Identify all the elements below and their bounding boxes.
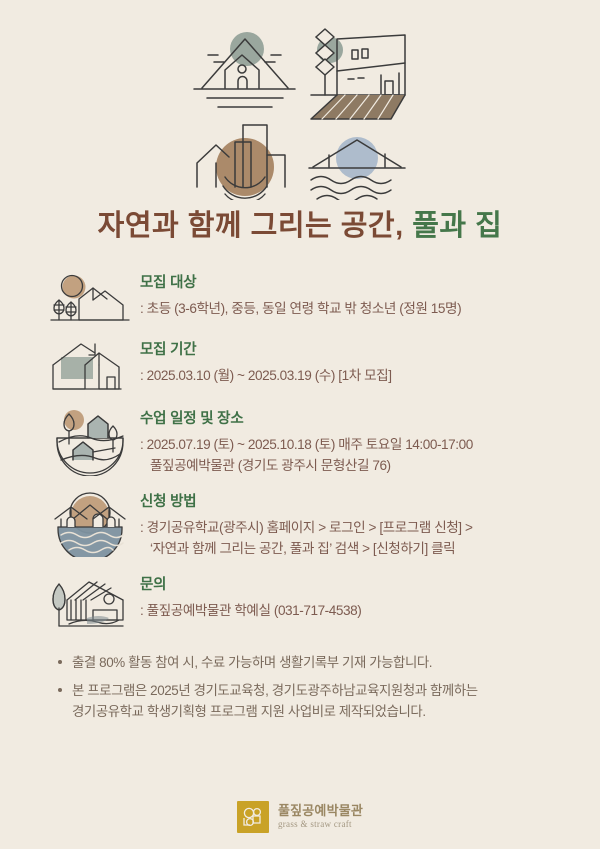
info-heading-apply: 신청 방법	[140, 493, 558, 513]
info-heading-period: 모집 기간	[140, 341, 558, 361]
page-title: 자연과 함께 그리는 공간, 풀과 집	[0, 208, 600, 244]
footer-museum-name-ko: 풀짚공예박물관	[278, 804, 363, 818]
info-body-period: 모집 기간 : 2025.03.10 (월) ~ 2025.03.19 (수) …	[136, 339, 558, 386]
info-heading-contact: 문의	[140, 576, 558, 596]
note-item: 출결 80% 활동 참여 시, 수료 가능하며 생활기록부 기재 가능합니다.	[56, 652, 554, 674]
info-text-schedule-line2: 풀짚공예박물관 (경기도 광주시 문형산길 76)	[140, 455, 558, 476]
hero-panel-modern-house	[311, 29, 405, 119]
page-title-part1: 자연과 함께 그리는 공간,	[98, 210, 404, 242]
hero-illustration	[0, 0, 600, 200]
waterside-houses-icon	[44, 491, 136, 557]
info-text-schedule-line1: : 2025.07.19 (토) ~ 2025.10.18 (토) 매주 토요일…	[140, 434, 558, 455]
note-line-1: 출결 80% 활동 참여 시, 수료 가능하며 생활기록부 기재 가능합니다.	[72, 655, 432, 670]
info-text-target-line1: : 초등 (3-6학년), 중등, 동일 연령 학교 밖 청소년 (정원 15명…	[140, 298, 558, 319]
info-text-apply-line1: : 경기공유학교(광주시) 홈페이지 > 로그인 > [프로그램 신청] >	[140, 517, 558, 538]
note-line-2: 경기공유학교 학생기획형 프로그램 지원 사업비로 제작되었습니다.	[72, 701, 554, 723]
info-row-target: 모집 대상 : 초등 (3-6학년), 중등, 동일 연령 학교 밖 청소년 (…	[44, 272, 558, 324]
info-body-target: 모집 대상 : 초등 (3-6학년), 중등, 동일 연령 학교 밖 청소년 (…	[136, 272, 558, 319]
info-body-schedule: 수업 일정 및 장소 : 2025.07.19 (토) ~ 2025.10.18…	[136, 408, 558, 476]
hero-illustration-svg	[185, 15, 415, 200]
info-text-contact-line1: : 풀짚공예박물관 학예실 (031-717-4538)	[140, 600, 558, 621]
hero-panel-house-over-water	[309, 137, 405, 200]
page-title-part2: 풀과 집	[412, 210, 502, 242]
grass-straw-craft-logo-icon	[237, 801, 269, 833]
info-text-period-line1: : 2025.03.10 (월) ~ 2025.03.19 (수) [1차 모집…	[140, 365, 558, 386]
info-text-apply-line2: ‘자연과 함께 그리는 공간, 풀과 집’ 검색 > [신청하기] 클릭	[140, 538, 558, 559]
hero-panel-city-houses	[197, 125, 285, 200]
footer-museum-name-en: grass & straw craft	[278, 820, 363, 829]
info-text-schedule-line2-inner: 풀짚공예박물관 (경기도 광주시 문형산길 76)	[140, 455, 391, 476]
poster-root: 자연과 함께 그리는 공간, 풀과 집	[0, 0, 600, 849]
info-row-contact: 문의 : 풀짚공예박물관 학예실 (031-717-4538)	[44, 574, 558, 630]
footer-logo: 풀짚공예박물관 grass & straw craft	[0, 801, 600, 833]
hero-panel-house-with-sun	[194, 32, 295, 107]
house-with-trees-icon	[44, 272, 136, 324]
info-body-apply: 신청 방법 : 경기공유학교(광주시) 홈페이지 > 로그인 > [프로그램 신…	[136, 491, 558, 559]
gabled-house-icon	[44, 339, 136, 393]
info-heading-target: 모집 대상	[140, 274, 558, 294]
info-row-apply: 신청 방법 : 경기공유학교(광주시) 홈페이지 > 로그인 > [프로그램 신…	[44, 491, 558, 559]
note-line-1: 본 프로그램은 2025년 경기도교육청, 경기도광주하남교육지원청과 함께하는	[72, 683, 478, 698]
footer-logo-text: 풀짚공예박물관 grass & straw craft	[278, 804, 363, 829]
info-text-apply-line2-inner: ‘자연과 함께 그리는 공간, 풀과 집’ 검색 > [신청하기] 클릭	[140, 538, 455, 559]
info-sections: 모집 대상 : 초등 (3-6학년), 중등, 동일 연령 학교 밖 청소년 (…	[0, 272, 600, 630]
village-hill-icon	[44, 408, 136, 476]
info-row-period: 모집 기간 : 2025.03.10 (월) ~ 2025.03.19 (수) …	[44, 339, 558, 393]
barn-with-tree-icon	[44, 574, 136, 630]
info-body-contact: 문의 : 풀짚공예박물관 학예실 (031-717-4538)	[136, 574, 558, 621]
info-heading-schedule: 수업 일정 및 장소	[140, 410, 558, 430]
notes-list: 출결 80% 활동 참여 시, 수료 가능하며 생활기록부 기재 가능합니다. …	[0, 652, 600, 723]
info-row-schedule: 수업 일정 및 장소 : 2025.07.19 (토) ~ 2025.10.18…	[44, 408, 558, 476]
note-item: 본 프로그램은 2025년 경기도교육청, 경기도광주하남교육지원청과 함께하는…	[56, 680, 554, 723]
